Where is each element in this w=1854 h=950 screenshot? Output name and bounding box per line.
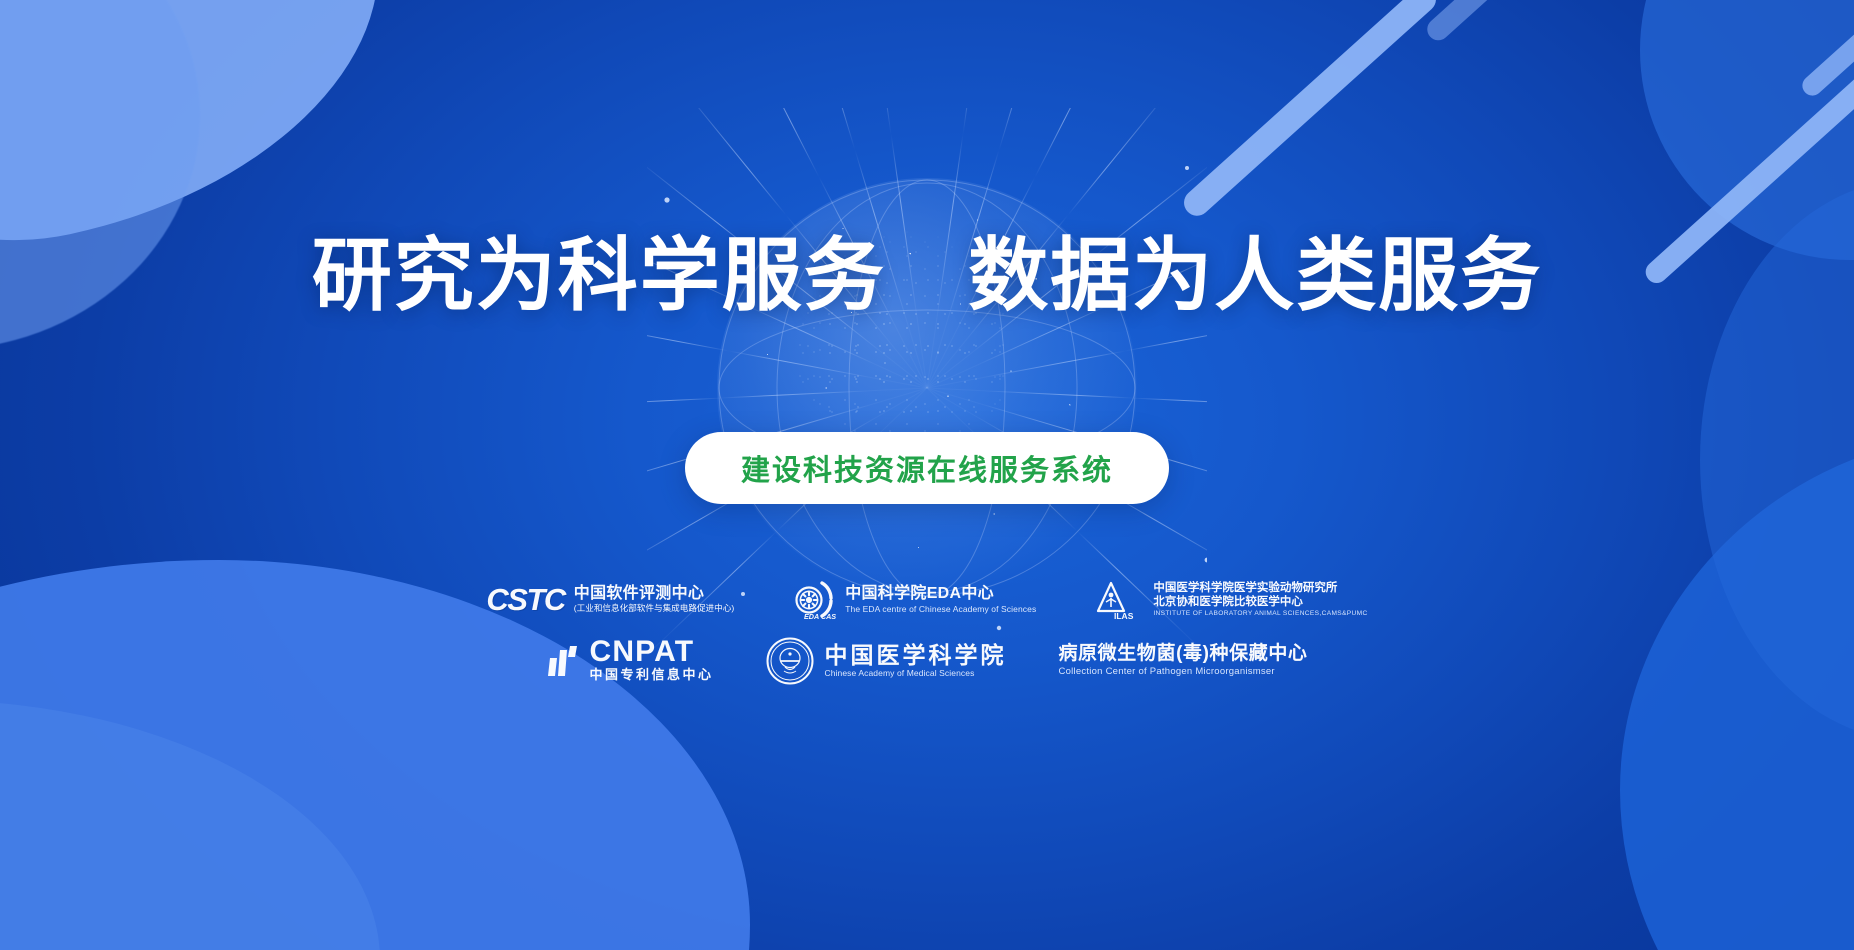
ilas-name-cn-2: 北京协和医学院比较医学中心 xyxy=(1153,595,1367,609)
partner-logos: CSTC 中国软件评测中心 (工业和信息化部软件与集成电路促进中心) xyxy=(486,578,1367,686)
pathogen-name-cn: 病原微生物菌(毒)种保藏中心 xyxy=(1058,643,1307,666)
ilas-mark-sub: ILAS xyxy=(1114,611,1134,621)
partner-logo-cnpat[interactable]: CNPAT 中国专利信息中心 xyxy=(546,637,713,684)
eda-cas-name-cn: 中国科学院EDA中心 xyxy=(845,585,1036,604)
cams-name-cn: 中国医学科学院 xyxy=(824,643,1006,668)
cstc-wordmark-icon: CSTC xyxy=(486,584,564,615)
subtitle-pill-label: 建设科技资源在线服务系统 xyxy=(741,447,1113,489)
cnpat-wordmark: CNPAT xyxy=(589,637,713,667)
headline-left-text: 研究为科学服务 xyxy=(312,231,886,320)
partner-logo-row-1: CSTC 中国软件评测中心 (工业和信息化部软件与集成电路促进中心) xyxy=(486,578,1367,622)
eda-cas-name-en: The EDA centre of Chinese Academy of Sci… xyxy=(845,604,1036,615)
cstc-text-block: 中国软件评测中心 (工业和信息化部软件与集成电路促进中心) xyxy=(574,585,734,615)
cams-text-block: 中国医学科学院 Chinese Academy of Medical Scien… xyxy=(824,643,1006,679)
banner-content: 研究为科学服务 数据为人类服务 建设科技资源在线服务系统 CSTC 中国软件评测… xyxy=(0,0,1854,950)
cnpat-name-cn: 中国专利信息中心 xyxy=(589,667,713,684)
page-title: 研究为科学服务 数据为人类服务 xyxy=(312,236,1542,316)
partner-logo-ilas[interactable]: ILAS 中国医学科学院医学实验动物研究所 北京协和医学院比较医学中心 INST… xyxy=(1094,578,1367,622)
partner-logo-row-2: CNPAT 中国专利信息中心 xyxy=(546,636,1307,686)
cstc-name-paren: (工业和信息化部软件与集成电路促进中心) xyxy=(574,603,734,614)
cams-seal-icon xyxy=(765,636,815,686)
cnpat-bars-icon xyxy=(546,644,580,678)
banner-stage: 研究为科学服务 数据为人类服务 建设科技资源在线服务系统 CSTC 中国软件评测… xyxy=(0,0,1854,950)
ilas-name-cn-1: 中国医学科学院医学实验动物研究所 xyxy=(1153,581,1367,595)
partner-logo-cams[interactable]: 中国医学科学院 Chinese Academy of Medical Scien… xyxy=(765,636,1006,686)
cams-name-en: Chinese Academy of Medical Sciences xyxy=(824,668,1006,679)
headline-right-text: 数据为人类服务 xyxy=(968,231,1542,320)
ilas-text-block: 中国医学科学院医学实验动物研究所 北京协和医学院比较医学中心 INSTITUTE… xyxy=(1153,581,1367,618)
ilas-emblem-icon: ILAS xyxy=(1094,578,1144,622)
cstc-name-cn: 中国软件评测中心 xyxy=(574,585,734,604)
pathogen-text-block: 病原微生物菌(毒)种保藏中心 Collection Center of Path… xyxy=(1058,643,1307,679)
eda-cas-text-block: 中国科学院EDA中心 The EDA centre of Chinese Aca… xyxy=(845,585,1036,615)
subtitle-pill-button[interactable]: 建设科技资源在线服务系统 xyxy=(685,432,1169,504)
eda-cas-emblem-icon: EDA CAS xyxy=(792,579,836,621)
ilas-name-en: INSTITUTE OF LABORATORY ANIMAL SCIENCES,… xyxy=(1153,610,1367,619)
eda-cas-mark-sub: EDA CAS xyxy=(804,612,836,621)
pathogen-name-en: Collection Center of Pathogen Microorgan… xyxy=(1058,665,1307,678)
partner-logo-pathogen-collection[interactable]: 病原微生物菌(毒)种保藏中心 Collection Center of Path… xyxy=(1058,643,1307,679)
cnpat-text-block: CNPAT 中国专利信息中心 xyxy=(589,637,713,684)
partner-logo-cstc[interactable]: CSTC 中国软件评测中心 (工业和信息化部软件与集成电路促进中心) xyxy=(486,584,734,615)
partner-logo-eda-cas[interactable]: EDA CAS 中国科学院EDA中心 The EDA centre of Chi… xyxy=(792,579,1036,621)
